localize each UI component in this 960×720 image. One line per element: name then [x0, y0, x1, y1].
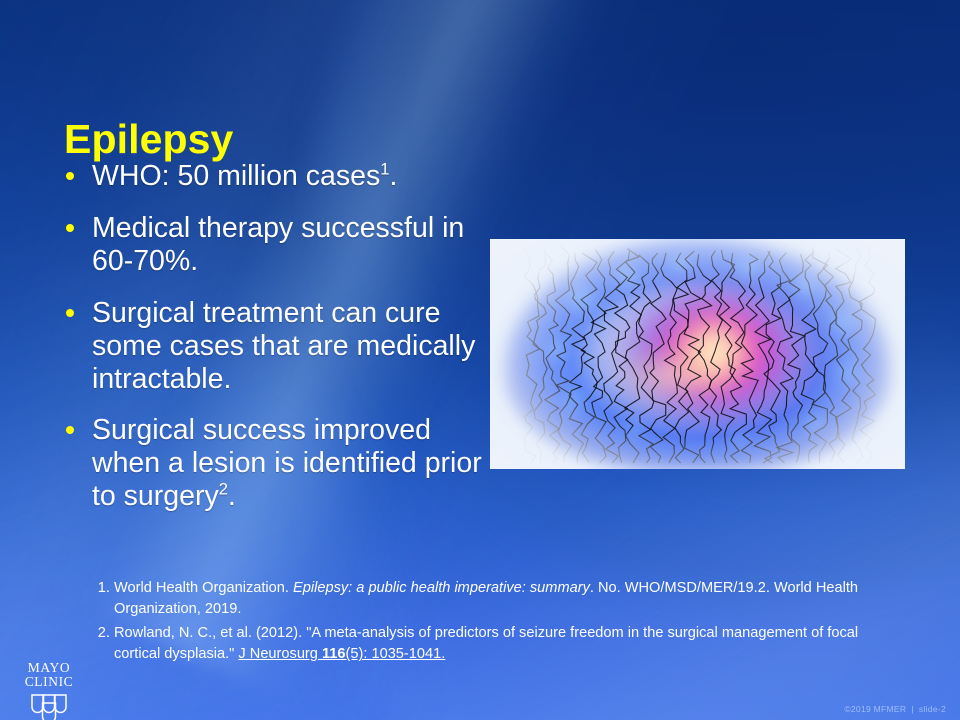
mayo-clinic-logo: MAYO CLINIC	[12, 661, 86, 720]
bullet-tail-1: .	[389, 160, 397, 192]
slide-footer: ©2019 MFMER|slide-2	[844, 704, 946, 714]
reference-2-pages: (5): 1035-1041.	[346, 646, 446, 662]
bullet-text-3: Surgical treatment can cure some cases t…	[92, 297, 475, 395]
reference-1-text-a: World Health Organization.	[114, 580, 293, 596]
footer-separator: |	[911, 704, 914, 714]
eeg-trace-overlay	[490, 239, 905, 469]
bullet-dot-icon	[66, 172, 74, 180]
logo-word-mayo: MAYO	[12, 661, 86, 675]
brain-eeg-heatmap-image	[490, 239, 905, 469]
bullet-tail-4: .	[228, 480, 236, 512]
slide-title: Epilepsy	[64, 119, 233, 160]
slide: Epilepsy WHO: 50 million cases1. Medical…	[0, 0, 960, 720]
reference-2-volume: 116	[322, 646, 346, 662]
reference-1-title-italic: Epilepsy: a public health imperative: su…	[293, 580, 590, 596]
bullet-dot-icon	[66, 224, 74, 232]
bullet-item-4: Surgical success improved when a lesion …	[62, 414, 482, 513]
footer-copyright: ©2019 MFMER	[844, 704, 906, 714]
bullet-superscript-4: 2	[219, 480, 228, 499]
bullet-dot-icon	[66, 309, 74, 317]
reference-item-1: World Health Organization. Epilepsy: a p…	[114, 578, 888, 620]
logo-word-clinic: CLINIC	[12, 675, 86, 689]
bullet-dot-icon	[66, 426, 74, 434]
bullet-text-4: Surgical success improved when a lesion …	[92, 414, 482, 512]
bullet-item-2: Medical therapy successful in 60-70%.	[62, 212, 482, 278]
mayo-clinic-shields-icon	[29, 691, 69, 720]
reference-2-text-a: Rowland, N. C., et al. (2012). "A meta-a…	[114, 625, 858, 662]
reference-2-journal: J Neurosurg	[238, 646, 322, 662]
bullet-text-2: Medical therapy successful in 60-70%.	[92, 212, 464, 277]
footer-slide-number: slide-2	[919, 704, 946, 714]
bullet-list: WHO: 50 million cases1. Medical therapy …	[62, 160, 482, 532]
references-list: World Health Organization. Epilepsy: a p…	[88, 578, 888, 669]
bullet-item-1: WHO: 50 million cases1.	[62, 160, 482, 193]
bullet-item-3: Surgical treatment can cure some cases t…	[62, 297, 482, 396]
reference-item-2: Rowland, N. C., et al. (2012). "A meta-a…	[114, 623, 888, 665]
bullet-text-1: WHO: 50 million cases	[92, 160, 380, 192]
